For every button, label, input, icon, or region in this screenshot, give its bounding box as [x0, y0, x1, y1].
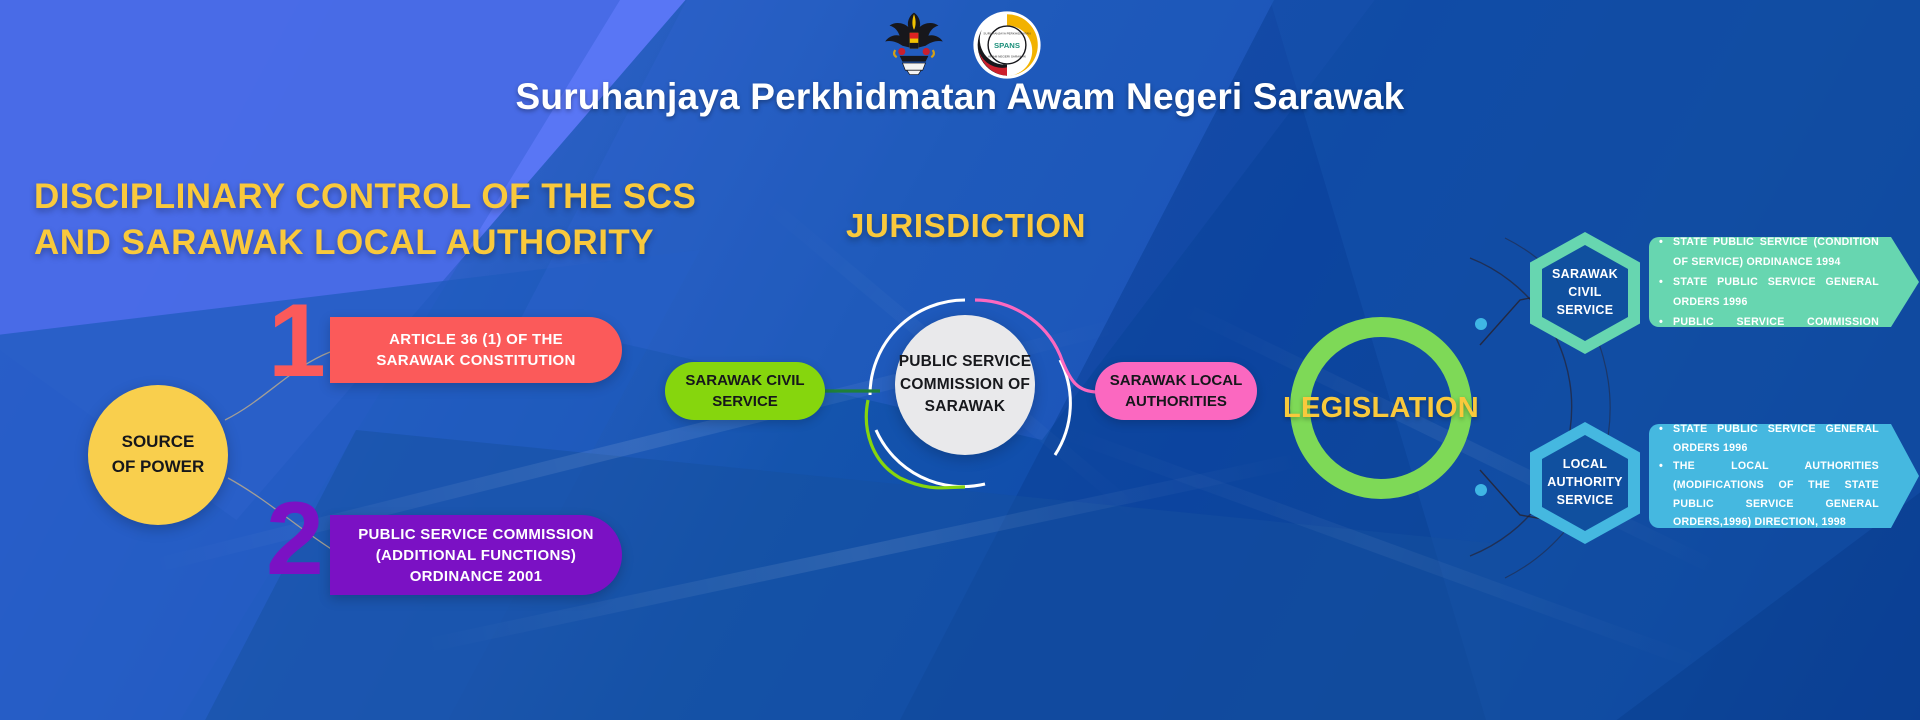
- source-item-1[interactable]: 1 ARTICLE 36 (1) OF THE SARAWAK CONSTITU…: [330, 317, 622, 383]
- source-item-1-number: 1: [268, 289, 322, 393]
- jurisdiction-hub-node[interactable]: PUBLIC SERVICE COMMISSION OF SARAWAK: [895, 315, 1035, 455]
- source-item-2-label: PUBLIC SERVICE COMMISSION (ADDITIONAL FU…: [330, 515, 622, 595]
- list-item: STATE PUBLIC SERVICE (CONDITION OF SERVI…: [1673, 232, 1879, 272]
- page-title-line-2: AND SARAWAK LOCAL AUTHORITY: [34, 220, 674, 266]
- page-title: DISCIPLINARY CONTROL OF THE SCS AND SARA…: [34, 174, 674, 265]
- list-item: STATE PUBLIC SERVICE GENERAL ORDERS 1996: [1673, 420, 1879, 457]
- list-item: THE LOCAL AUTHORITIES (MODIFICATIONS OF …: [1673, 457, 1879, 531]
- spans-logo-text: SPANS: [994, 41, 1020, 50]
- legislation-ring-node[interactable]: LEGISLATION: [1290, 317, 1472, 499]
- page-title-line-1: DISCIPLINARY CONTROL OF THE SCS: [34, 174, 674, 220]
- legislation-list-civil-service: SARAWAK STATE CONSTITUTION STATE PUBLIC …: [1649, 237, 1919, 327]
- svg-text:SURUHANJAYA PERKHIDMATAN: SURUHANJAYA PERKHIDMATAN: [983, 32, 1030, 36]
- hex-local-authority-service-label: LOCALAUTHORITYSERVICE: [1542, 435, 1628, 531]
- hex-sarawak-civil-service-label: SARAWAKCIVILSERVICE: [1542, 245, 1628, 341]
- organization-title: Suruhanjaya Perkhidmatan Awam Negeri Sar…: [0, 76, 1920, 118]
- header-logos: SPANS SURUHANJAYA PERKHIDMATAN AWAM NEGE…: [0, 4, 1920, 80]
- svg-text:AWAM NEGERI SARAWAK: AWAM NEGERI SARAWAK: [988, 55, 1027, 59]
- source-item-1-label: ARTICLE 36 (1) OF THE SARAWAK CONSTITUTI…: [330, 317, 622, 383]
- spans-logo-icon: SPANS SURUHANJAYA PERKHIDMATAN AWAM NEGE…: [972, 10, 1042, 80]
- source-of-power-label: SOURCEOF POWER: [112, 430, 205, 479]
- infographic-canvas: SPANS SURUHANJAYA PERKHIDMATAN AWAM NEGE…: [0, 0, 1920, 720]
- legislation-ring-label: LEGISLATION: [1283, 392, 1479, 425]
- sarawak-state-crest-icon: [878, 4, 950, 76]
- source-of-power-node[interactable]: SOURCEOF POWER: [88, 385, 228, 525]
- jurisdiction-tag-local-authorities[interactable]: SARAWAK LOCAL AUTHORITIES: [1095, 362, 1257, 420]
- list-item: STATE PUBLIC SERVICE GENERAL ORDERS 1996: [1673, 272, 1879, 312]
- jurisdiction-hub-label: PUBLIC SERVICE COMMISSION OF SARAWAK: [895, 351, 1035, 418]
- source-item-2-number: 2: [266, 487, 320, 591]
- jurisdiction-tag-civil-service[interactable]: SARAWAK CIVIL SERVICE: [665, 362, 825, 420]
- jurisdiction-tag-civil-service-label: SARAWAK CIVIL SERVICE: [665, 370, 825, 412]
- jurisdiction-tag-local-authorities-label: SARAWAK LOCAL AUTHORITIES: [1095, 370, 1257, 412]
- legislation-list-local-authority: THE LOCAL AUTHORITIES ORDINANCE 1996 STA…: [1649, 424, 1919, 528]
- section-title-jurisdiction: JURISDICTION: [846, 207, 1086, 245]
- source-item-2[interactable]: 2 PUBLIC SERVICE COMMISSION (ADDITIONAL …: [330, 515, 622, 595]
